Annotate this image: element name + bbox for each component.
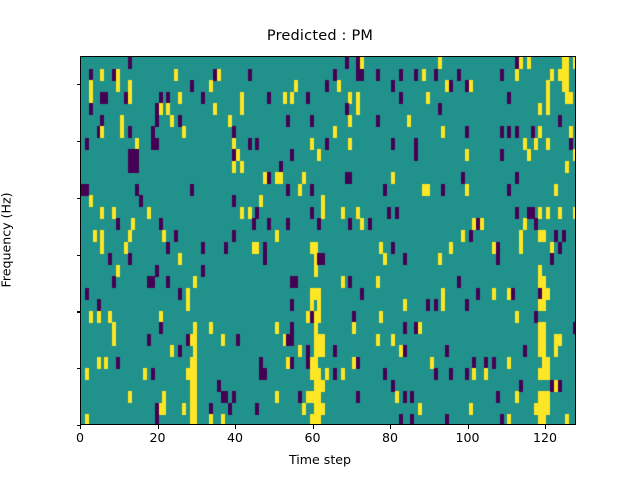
y-tick-mark xyxy=(77,311,81,312)
x-tick-mark xyxy=(313,425,314,429)
x-tick-mark xyxy=(80,425,81,429)
chart-title: Predicted : PM xyxy=(0,28,640,44)
y-tick-mark xyxy=(77,368,81,369)
x-tick-mark xyxy=(468,425,469,429)
x-tick-mark xyxy=(235,425,236,429)
figure-canvas: Predicted : PM Frequency (Hz) 0200004000… xyxy=(0,0,640,480)
x-tick-mark xyxy=(545,425,546,429)
plot-area[interactable] xyxy=(80,56,576,425)
x-tick-label: 40 xyxy=(227,430,243,445)
x-axis-label: Time step xyxy=(0,452,640,467)
x-tick-label: 100 xyxy=(455,430,479,445)
x-tick-mark xyxy=(390,425,391,429)
x-tick-label: 60 xyxy=(304,430,320,445)
x-tick-label: 0 xyxy=(76,430,84,445)
heatmap-image xyxy=(81,57,576,425)
y-tick-mark xyxy=(77,141,81,142)
y-axis-label: Frequency (Hz) xyxy=(0,193,14,288)
y-tick-mark xyxy=(77,198,81,199)
x-tick-label: 120 xyxy=(533,430,557,445)
x-tick-mark xyxy=(158,425,159,429)
y-tick-mark xyxy=(77,84,81,85)
x-tick-label: 20 xyxy=(149,430,165,445)
y-tick-mark xyxy=(77,255,81,256)
x-tick-label: 80 xyxy=(382,430,398,445)
